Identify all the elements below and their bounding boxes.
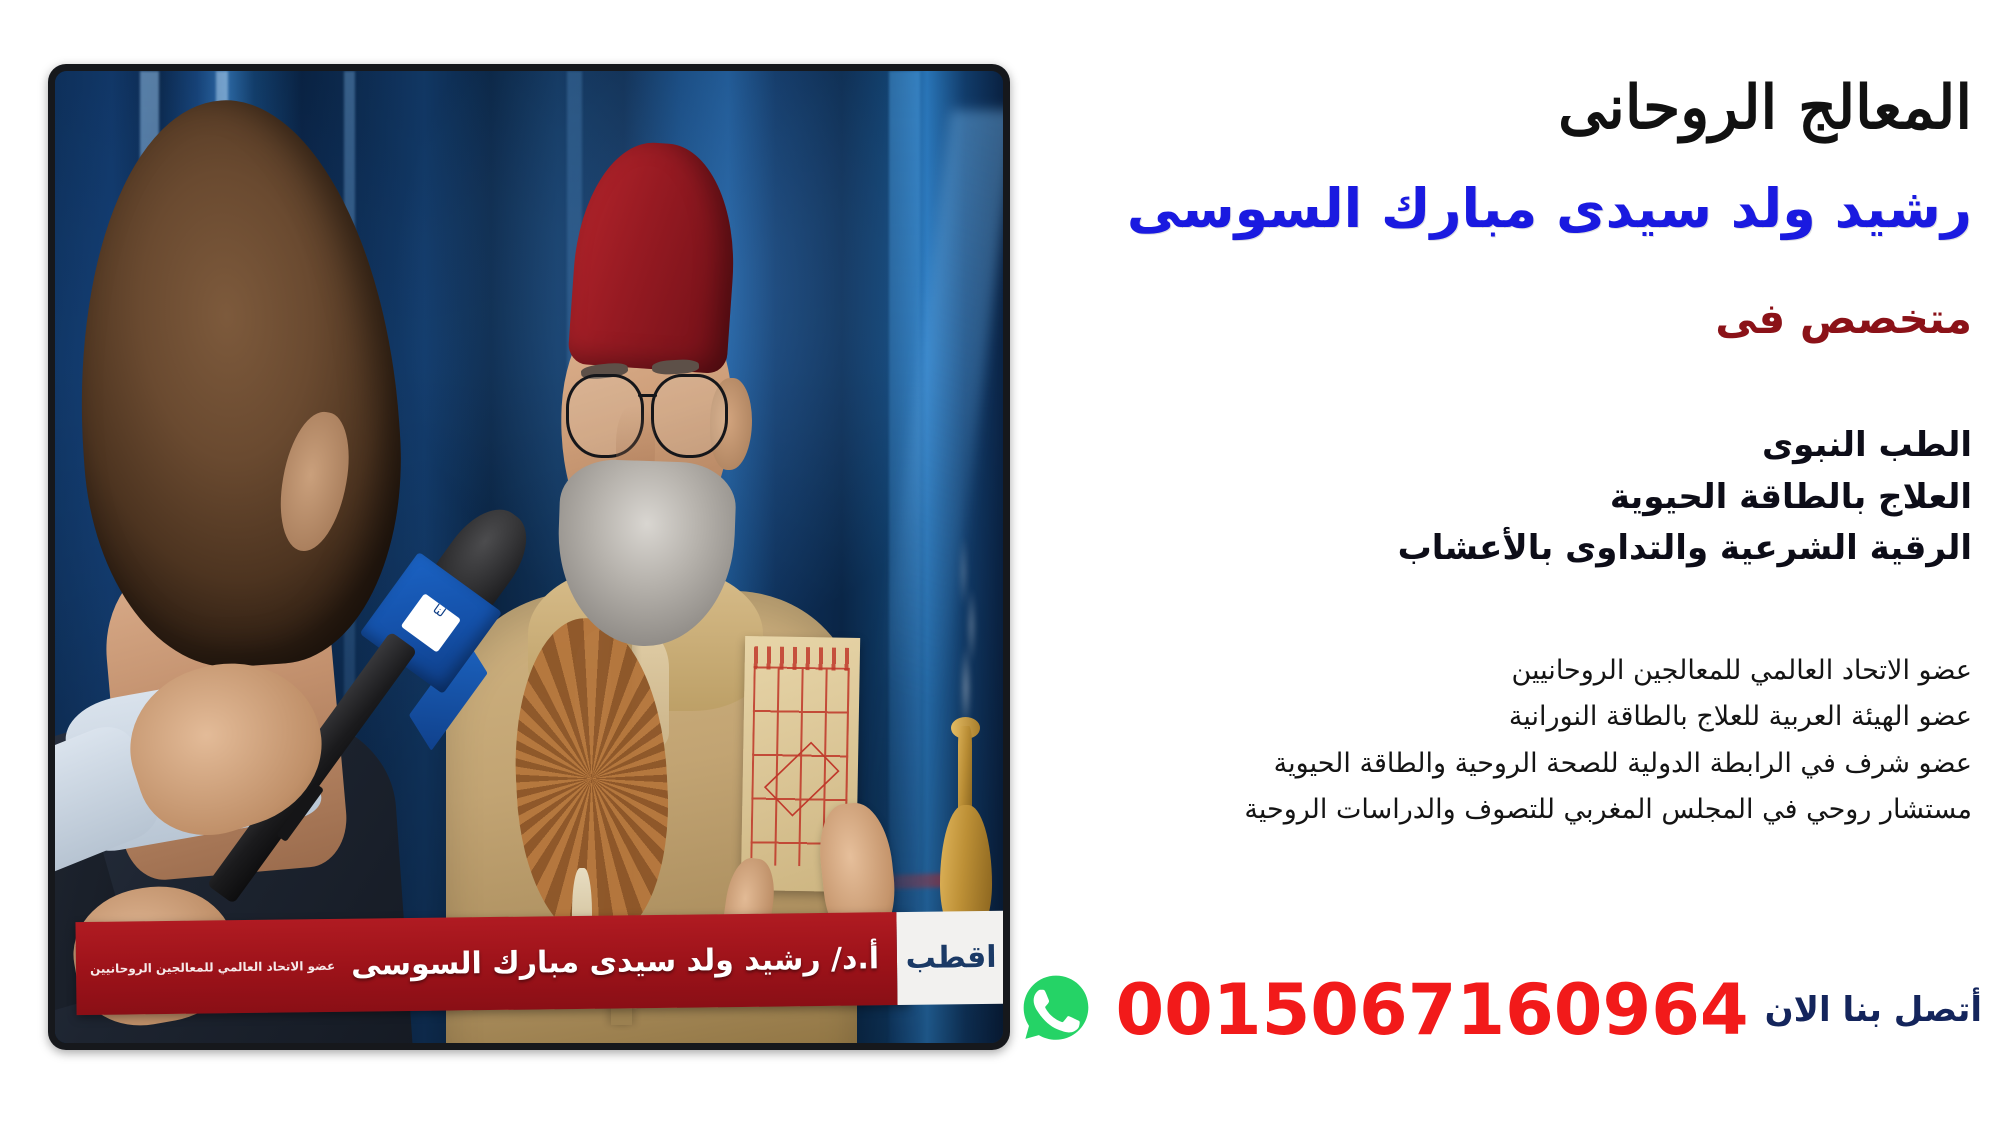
channel-logo-box: اقطب — [896, 910, 1003, 1005]
contact-row[interactable]: أتصل بنا الان 0015067160964 — [1013, 967, 1982, 1053]
lower-third-name: أ.د/ رشيد ولد سيدى مبارك السوسى — [351, 941, 879, 982]
credential-item: مستشار روحي في المجلس المغربي للتصوف وال… — [1052, 787, 1972, 833]
credentials-list: عضو الاتحاد العالمي للمعالجين الروحانيين… — [1052, 648, 1972, 834]
eyeglass-bridge — [638, 394, 657, 398]
channel-logo-text: اقطب — [905, 940, 996, 976]
microphone-channel-logo: لنا — [400, 593, 460, 652]
healer-name-heading: رشيد ولد سيدى مبارك السوسى — [1127, 182, 1972, 236]
tv-photo: لنا أ.د/ رشيد ولد سيدى مبارك السوسى عضو … — [55, 71, 1003, 1043]
incense-smoke — [951, 522, 985, 729]
tv-photo-frame: لنا أ.د/ رشيد ولد سيدى مبارك السوسى عضو … — [48, 64, 1010, 1050]
specialty-item: الرقية الشرعية والتداوى بالأعشاب — [1052, 523, 1972, 575]
specialties-list: الطب النبوى العلاج بالطاقة الحيوية الرقي… — [1052, 420, 1972, 575]
info-column: المعالج الروحانى رشيد ولد سيدى مبارك الس… — [1020, 0, 2000, 1125]
specialty-item: العلاج بالطاقة الحيوية — [1052, 472, 1972, 524]
whatsapp-icon[interactable] — [1013, 967, 1099, 1053]
lower-third-banner: أ.د/ رشيد ولد سيدى مبارك السوسى عضو الات… — [75, 912, 910, 1015]
specialized-in-label: متخصص فى — [1715, 298, 1972, 340]
lower-third-subtitle: عضو الاتحاد العالمي للمعالجين الروحانيين — [90, 958, 335, 975]
phone-number[interactable]: 0015067160964 — [1115, 975, 1748, 1045]
specialty-item: الطب النبوى — [1052, 420, 1972, 472]
red-tarboosh-hat — [568, 137, 742, 374]
credential-item: عضو شرف في الرابطة الدولية للصحة الروحية… — [1052, 741, 1972, 787]
incense-neck — [958, 726, 972, 814]
eyeglass-lens — [651, 374, 728, 458]
call-us-now-label: أتصل بنا الان — [1765, 990, 1982, 1030]
credential-item: عضو الهيئة العربية للعلاج بالطاقة النورا… — [1052, 694, 1972, 740]
credential-item: عضو الاتحاد العالمي للمعالجين الروحانيين — [1052, 648, 1972, 694]
headline-spiritual-healer: المعالج الروحانى — [1558, 78, 1972, 138]
poster-canvas: لنا أ.د/ رشيد ولد سيدى مبارك السوسى عضو … — [0, 0, 2000, 1125]
lower-third-red-bar: أ.د/ رشيد ولد سيدى مبارك السوسى عضو الات… — [75, 912, 897, 1015]
